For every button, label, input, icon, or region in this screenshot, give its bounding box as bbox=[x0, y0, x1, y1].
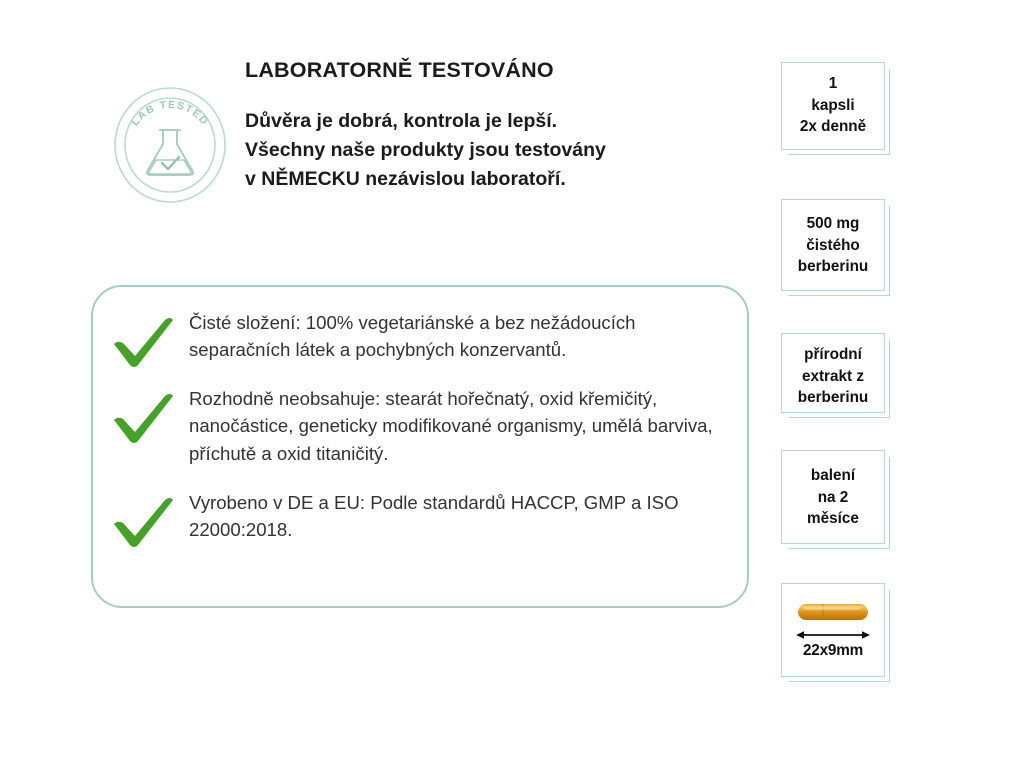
infographic-canvas: LAB TESTED LABORATORNĚ TESTOVÁNO Důvěra … bbox=[0, 0, 1024, 768]
list-item: Čisté složení: 100% vegetariánské a bez … bbox=[105, 309, 733, 363]
list-item: Vyrobeno v DE a EU: Podle standardů HACC… bbox=[105, 489, 733, 543]
info-box-amount: 500 mg čistého berberinu bbox=[781, 199, 885, 291]
info-box-dose-text: 1 kapsli 2x denně bbox=[782, 73, 884, 138]
capsule-size-group: 22x9mm bbox=[782, 584, 884, 676]
feature-text: Rozhodně neobsahuje: stearát hořečnatý, … bbox=[189, 385, 733, 466]
svg-text:LAB TESTED: LAB TESTED bbox=[129, 99, 211, 128]
feature-list: Čisté složení: 100% vegetariánské a bez … bbox=[105, 309, 733, 543]
capsule-icon bbox=[797, 601, 869, 623]
info-box-dose: 1 kapsli 2x denně bbox=[781, 62, 885, 150]
check-icon bbox=[109, 391, 177, 445]
info-box-extract-text: přírodní extrakt z berberinu bbox=[782, 344, 884, 409]
page-title: LABORATORNĚ TESTOVÁNO bbox=[245, 58, 765, 84]
measure-arrow-icon bbox=[795, 629, 871, 641]
feature-text: Vyrobeno v DE a EU: Podle standardů HACC… bbox=[189, 489, 733, 543]
subtitle-line-2: Všechny naše produkty jsou testovány bbox=[245, 136, 765, 165]
list-item: Rozhodně neobsahuje: stearát hořečnatý, … bbox=[105, 385, 733, 466]
info-box-extract: přírodní extrakt z berberinu bbox=[781, 333, 885, 413]
check-icon bbox=[109, 315, 177, 369]
lab-tested-badge-icon: LAB TESTED bbox=[112, 86, 228, 204]
check-icon bbox=[109, 495, 177, 549]
subtitle-line-1: Důvěra je dobrá, kontrola je lepší. bbox=[245, 107, 765, 136]
capsule-size-label: 22x9mm bbox=[803, 643, 863, 660]
info-box-capsule-size: 22x9mm bbox=[781, 583, 885, 677]
info-box-supply: balení na 2 měsíce bbox=[781, 450, 885, 544]
info-box-supply-text: balení na 2 měsíce bbox=[782, 465, 884, 530]
feature-text: Čisté složení: 100% vegetariánské a bez … bbox=[189, 309, 733, 363]
feature-panel: Čisté složení: 100% vegetariánské a bez … bbox=[91, 285, 749, 608]
info-box-amount-text: 500 mg čistého berberinu bbox=[782, 213, 884, 278]
header-subtitle: Důvěra je dobrá, kontrola je lepší. Všec… bbox=[245, 107, 765, 194]
subtitle-line-3: v NĚMECKU nezávislou laboratoří. bbox=[245, 165, 765, 194]
header-block: LABORATORNĚ TESTOVÁNO Důvěra je dobrá, k… bbox=[245, 58, 765, 193]
